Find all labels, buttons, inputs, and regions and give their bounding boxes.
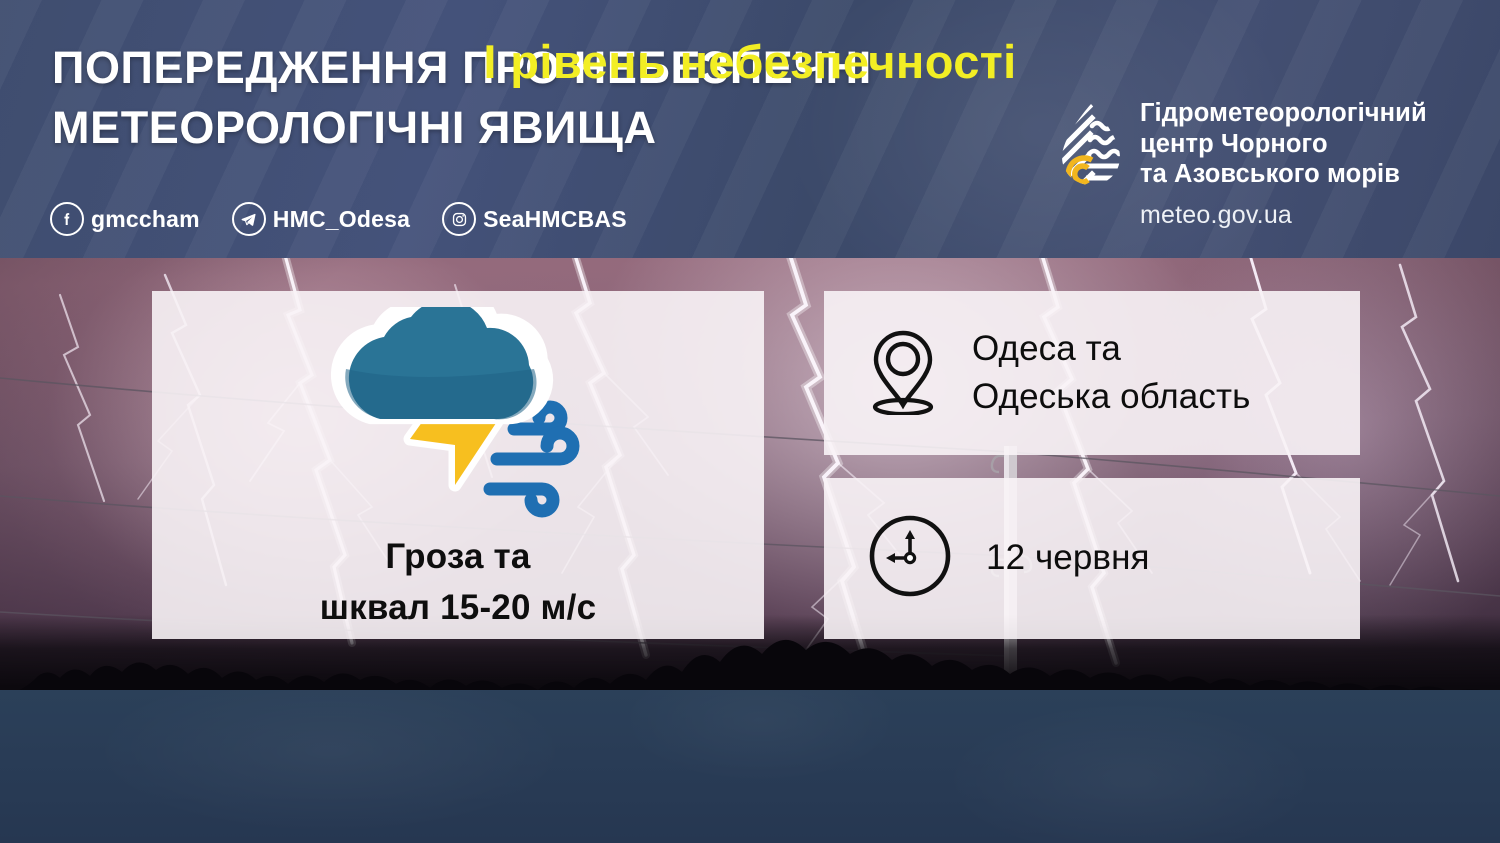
social-link-telegram[interactable]: HMC_Odesa xyxy=(232,202,410,236)
date-text: 12 червня xyxy=(986,534,1150,582)
social-link-instagram[interactable]: SeaHMCBAS xyxy=(442,202,627,236)
instagram-icon xyxy=(442,202,476,236)
logo-organization-name: Гідрометеорологічний центр Чорного та Аз… xyxy=(1140,98,1427,190)
location-card: Одеса та Одеська область xyxy=(824,291,1360,455)
location-text: Одеса та Одеська область xyxy=(972,325,1250,422)
social-handle-facebook: gmccham xyxy=(91,206,200,233)
map-pin-icon xyxy=(866,327,940,420)
water-droplet-logo-icon xyxy=(1058,102,1124,193)
clock-icon xyxy=(866,512,954,605)
weather-warning-poster: ПОПЕРЕДЖЕННЯ ПРО НЕБЕЗПЕЧНІ МЕТЕОРОЛОГІЧ… xyxy=(0,0,1500,843)
social-link-facebook[interactable]: gmccham xyxy=(50,202,200,236)
logo-website-url[interactable]: meteo.gov.ua xyxy=(1140,201,1427,230)
danger-level-text: І рівень небезпечності xyxy=(0,34,1500,89)
facebook-icon xyxy=(50,202,84,236)
organization-logo: Гідрометеорологічний центр Чорного та Аз… xyxy=(1058,98,1427,230)
social-links: gmccham HMC_Odesa SeaHMCBAS xyxy=(50,202,627,236)
date-card: 12 червня xyxy=(824,478,1360,639)
social-handle-telegram: HMC_Odesa xyxy=(273,206,410,233)
footer-texture xyxy=(0,690,1500,843)
footer-band xyxy=(0,690,1500,843)
telegram-icon xyxy=(232,202,266,236)
phenomenon-text: Гроза та шквал 15-20 м/с xyxy=(320,532,597,634)
social-handle-instagram: SeaHMCBAS xyxy=(483,206,627,233)
thunderstorm-wind-icon xyxy=(314,307,602,526)
phenomenon-card: Гроза та шквал 15-20 м/с xyxy=(152,291,764,639)
